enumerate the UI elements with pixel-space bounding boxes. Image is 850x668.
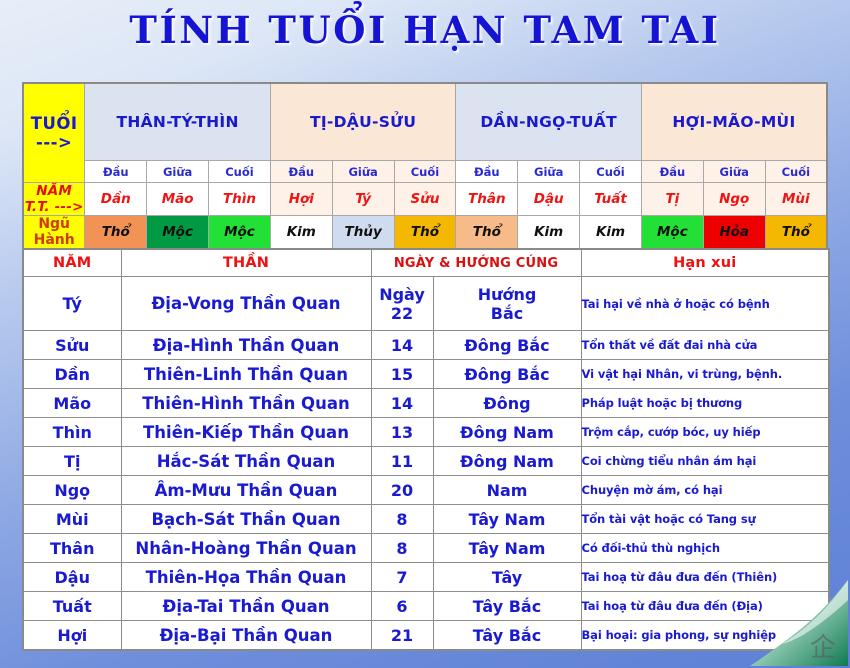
cell-nam: Ngọ [23, 476, 121, 505]
cell-ngay: 6 [371, 592, 433, 621]
year-g3-0: Tị [641, 183, 703, 216]
group-header-ti-dau-suu: TỊ-DẬU-SỬU [270, 83, 456, 161]
year-g0-0: Dần [85, 183, 147, 216]
page-title: TÍNH TUỔI HẠN TAM TAI [129, 8, 720, 52]
group-header-dan-ngo-tuat: DẦN-NGỌ-TUẤT [456, 83, 642, 161]
subheader-g0-dau: Đầu [85, 161, 147, 183]
cell-huong: Tây Bắc [433, 592, 581, 621]
cell-han-xui: Pháp luật hoặc bị thương [581, 389, 829, 418]
cell-huong: Tây [433, 563, 581, 592]
subheader-g3-cuoi: Cuối [765, 161, 827, 183]
element-g2-0: Thổ [456, 216, 518, 250]
year-g1-1: Tý [332, 183, 394, 216]
element-g1-2: Thổ [394, 216, 456, 250]
year-g2-1: Dậu [518, 183, 580, 216]
element-g1-0: Kim [270, 216, 332, 250]
cell-han-xui: Có đối-thủ thù nghịch [581, 534, 829, 563]
ngu-hanh-row: Ngũ Hành Thổ Mộc Mộc Kim Thủy Thổ Thổ Ki… [23, 216, 827, 250]
year-g0-2: Thìn [209, 183, 271, 216]
cell-ngay: 8 [371, 534, 433, 563]
cell-than: Thiên-Hình Thần Quan [121, 389, 371, 418]
cell-ngay: 14 [371, 331, 433, 360]
subheader-g1-dau: Đầu [270, 161, 332, 183]
table-row: Mão Thiên-Hình Thần Quan 14 Đông Pháp lu… [23, 389, 829, 418]
top-table-spacer-row: Đầu Giữa Cuối Đầu Giữa Cuối Đầu Giữa Cuố… [23, 161, 827, 183]
subheader-g1-cuoi: Cuối [394, 161, 456, 183]
nam-tt-row: NĂM T.T. ---> Dần Mão Thìn Hợi Tý Sửu Th… [23, 183, 827, 216]
cell-ngay-value: 22 [372, 304, 433, 323]
page-title-bar: TÍNH TUỔI HẠN TAM TAI [0, 8, 850, 52]
group-header-than-ty-thin: THÂN-TÝ-THÌN [85, 83, 271, 161]
cell-han-xui: Tai hoạ từ đâu đưa đến (Thiên) [581, 563, 829, 592]
year-g1-2: Sửu [394, 183, 456, 216]
cell-nam: Sửu [23, 331, 121, 360]
cell-huong: Hướng Bắc [433, 277, 581, 331]
cell-nam: Tý [23, 277, 121, 331]
element-g0-0: Thổ [85, 216, 147, 250]
cell-than: Thiên-Linh Thần Quan [121, 360, 371, 389]
header-nam: NĂM [23, 249, 121, 277]
year-g2-2: Tuất [580, 183, 642, 216]
subheader-g2-giua: Giữa [518, 161, 580, 183]
cell-han-xui: Trộm cắp, cướp bóc, uy hiếp [581, 418, 829, 447]
year-g3-1: Ngọ [703, 183, 765, 216]
cell-huong: Tây Bắc [433, 621, 581, 651]
element-g2-2: Kim [580, 216, 642, 250]
subheader-huong: Hướng [434, 285, 581, 304]
group-header-hoi-mao-mui: HỢI-MÃO-MÙI [641, 83, 827, 161]
cell-han-xui: Tai hoạ từ đâu đưa đến (Địa) [581, 592, 829, 621]
subheader-g3-giua: Giữa [703, 161, 765, 183]
cell-nam: Hợi [23, 621, 121, 651]
element-g2-1: Kim [518, 216, 580, 250]
cell-nam: Thân [23, 534, 121, 563]
cell-nam: Dậu [23, 563, 121, 592]
cell-huong: Tây Nam [433, 505, 581, 534]
table-row: Dậu Thiên-Họa Thần Quan 7 Tây Tai hoạ từ… [23, 563, 829, 592]
cell-han-xui: Tổn thất về đất đai nhà cửa [581, 331, 829, 360]
cell-nam: Tị [23, 447, 121, 476]
cell-huong: Đông Nam [433, 418, 581, 447]
table-row: Mùi Bạch-Sát Thần Quan 8 Tây Nam Tổn tài… [23, 505, 829, 534]
row-label-ngu-hanh: Ngũ Hành [23, 216, 85, 250]
cell-huong: Tây Nam [433, 534, 581, 563]
tam-tai-reference-table: TUỔI ---> THÂN-TÝ-THÌN TỊ-DẬU-SỬU DẦN-NG… [22, 82, 828, 250]
table-row: Tị Hắc-Sát Thần Quan 11 Đông Nam Coi chừ… [23, 447, 829, 476]
cell-than: Bạch-Sát Thần Quan [121, 505, 371, 534]
cell-ngay: 15 [371, 360, 433, 389]
header-ngay-huong-cung: NGÀY & HƯỚNG CÚNG [371, 249, 581, 277]
cell-ngay: 8 [371, 505, 433, 534]
cell-han-xui: Tai hại về nhà ở hoặc có bệnh [581, 277, 829, 331]
cell-than: Nhân-Hoàng Thần Quan [121, 534, 371, 563]
top-table-group-row: TUỔI ---> THÂN-TÝ-THÌN TỊ-DẬU-SỬU DẦN-NG… [23, 83, 827, 161]
element-g3-0: Mộc [641, 216, 703, 250]
cell-than: Địa-Hình Thần Quan [121, 331, 371, 360]
year-g3-2: Mùi [765, 183, 827, 216]
subheader-g1-giua: Giữa [332, 161, 394, 183]
element-g3-1: Hỏa [703, 216, 765, 250]
cell-ngay: 11 [371, 447, 433, 476]
cell-ngay: Ngày 22 [371, 277, 433, 331]
cell-huong: Đông [433, 389, 581, 418]
element-g0-2: Mộc [209, 216, 271, 250]
cell-than: Thiên-Kiếp Thần Quan [121, 418, 371, 447]
subheader-g2-cuoi: Cuối [580, 161, 642, 183]
table-row: Dần Thiên-Linh Thần Quan 15 Đông Bắc Vi … [23, 360, 829, 389]
year-g1-0: Hợi [270, 183, 332, 216]
cell-than: Địa-Vong Thần Quan [121, 277, 371, 331]
element-g3-2: Thổ [765, 216, 827, 250]
subheader-g0-cuoi: Cuối [209, 161, 271, 183]
cell-huong-value: Bắc [434, 304, 581, 323]
cell-ngay: 20 [371, 476, 433, 505]
cell-nam: Mùi [23, 505, 121, 534]
subheader-g0-giua: Giữa [147, 161, 209, 183]
cell-huong: Nam [433, 476, 581, 505]
table-row: Thân Nhân-Hoàng Thần Quan 8 Tây Nam Có đ… [23, 534, 829, 563]
cell-han-xui: Bại hoại: gia phong, sự nghiệp [581, 621, 829, 651]
cell-nam: Dần [23, 360, 121, 389]
cell-ngay: 13 [371, 418, 433, 447]
slide-canvas: TÍNH TUỔI HẠN TAM TAI TUỔI ---> THÂN-TÝ-… [0, 0, 850, 668]
year-g0-1: Mão [147, 183, 209, 216]
header-than: THẦN [121, 249, 371, 277]
header-han-xui: Hạn xui [581, 249, 829, 277]
cell-huong: Đông Bắc [433, 331, 581, 360]
main-table-header-row: NĂM THẦN NGÀY & HƯỚNG CÚNG Hạn xui [23, 249, 829, 277]
row-label-nam-tt: NĂM T.T. ---> [23, 183, 85, 216]
cell-han-xui: Chuyện mờ ám, có hại [581, 476, 829, 505]
cell-ngay: 7 [371, 563, 433, 592]
cell-than: Âm-Mưu Thần Quan [121, 476, 371, 505]
cell-than: Hắc-Sát Thần Quan [121, 447, 371, 476]
cell-nam: Mão [23, 389, 121, 418]
cell-huong: Đông Nam [433, 447, 581, 476]
cell-nam: Tuất [23, 592, 121, 621]
table-row: Ngọ Âm-Mưu Thần Quan 20 Nam Chuyện mờ ám… [23, 476, 829, 505]
year-g2-0: Thân [456, 183, 518, 216]
cell-than: Thiên-Họa Thần Quan [121, 563, 371, 592]
cell-huong: Đông Bắc [433, 360, 581, 389]
cell-ngay: 14 [371, 389, 433, 418]
subheader-g3-dau: Đầu [641, 161, 703, 183]
element-g0-1: Mộc [147, 216, 209, 250]
cell-nam: Thìn [23, 418, 121, 447]
cell-han-xui: Coi chừng tiểu nhân ám hại [581, 447, 829, 476]
table-row: Hợi Địa-Bại Thần Quan 21 Tây Bắc Bại hoạ… [23, 621, 829, 651]
table-row: Tý Địa-Vong Thần Quan Ngày 22 Hướng Bắc … [23, 277, 829, 331]
subheader-g2-dau: Đầu [456, 161, 518, 183]
cell-han-xui: Vi vật hại Nhân, vi trùng, bệnh. [581, 360, 829, 389]
table-row: Tuất Địa-Tai Thần Quan 6 Tây Bắc Tai hoạ… [23, 592, 829, 621]
cell-than: Địa-Bại Thần Quan [121, 621, 371, 651]
tuoi-corner-label: TUỔI ---> [23, 83, 85, 183]
table-row: Thìn Thiên-Kiếp Thần Quan 13 Đông Nam Tr… [23, 418, 829, 447]
cell-than: Địa-Tai Thần Quan [121, 592, 371, 621]
subheader-ngay: Ngày [372, 285, 433, 304]
element-g1-1: Thủy [332, 216, 394, 250]
table-row: Sửu Địa-Hình Thần Quan 14 Đông Bắc Tổn t… [23, 331, 829, 360]
han-tam-tai-detail-table: NĂM THẦN NGÀY & HƯỚNG CÚNG Hạn xui Tý Đị… [22, 248, 830, 651]
cell-han-xui: Tổn tài vật hoặc có Tang sự [581, 505, 829, 534]
cell-ngay: 21 [371, 621, 433, 651]
